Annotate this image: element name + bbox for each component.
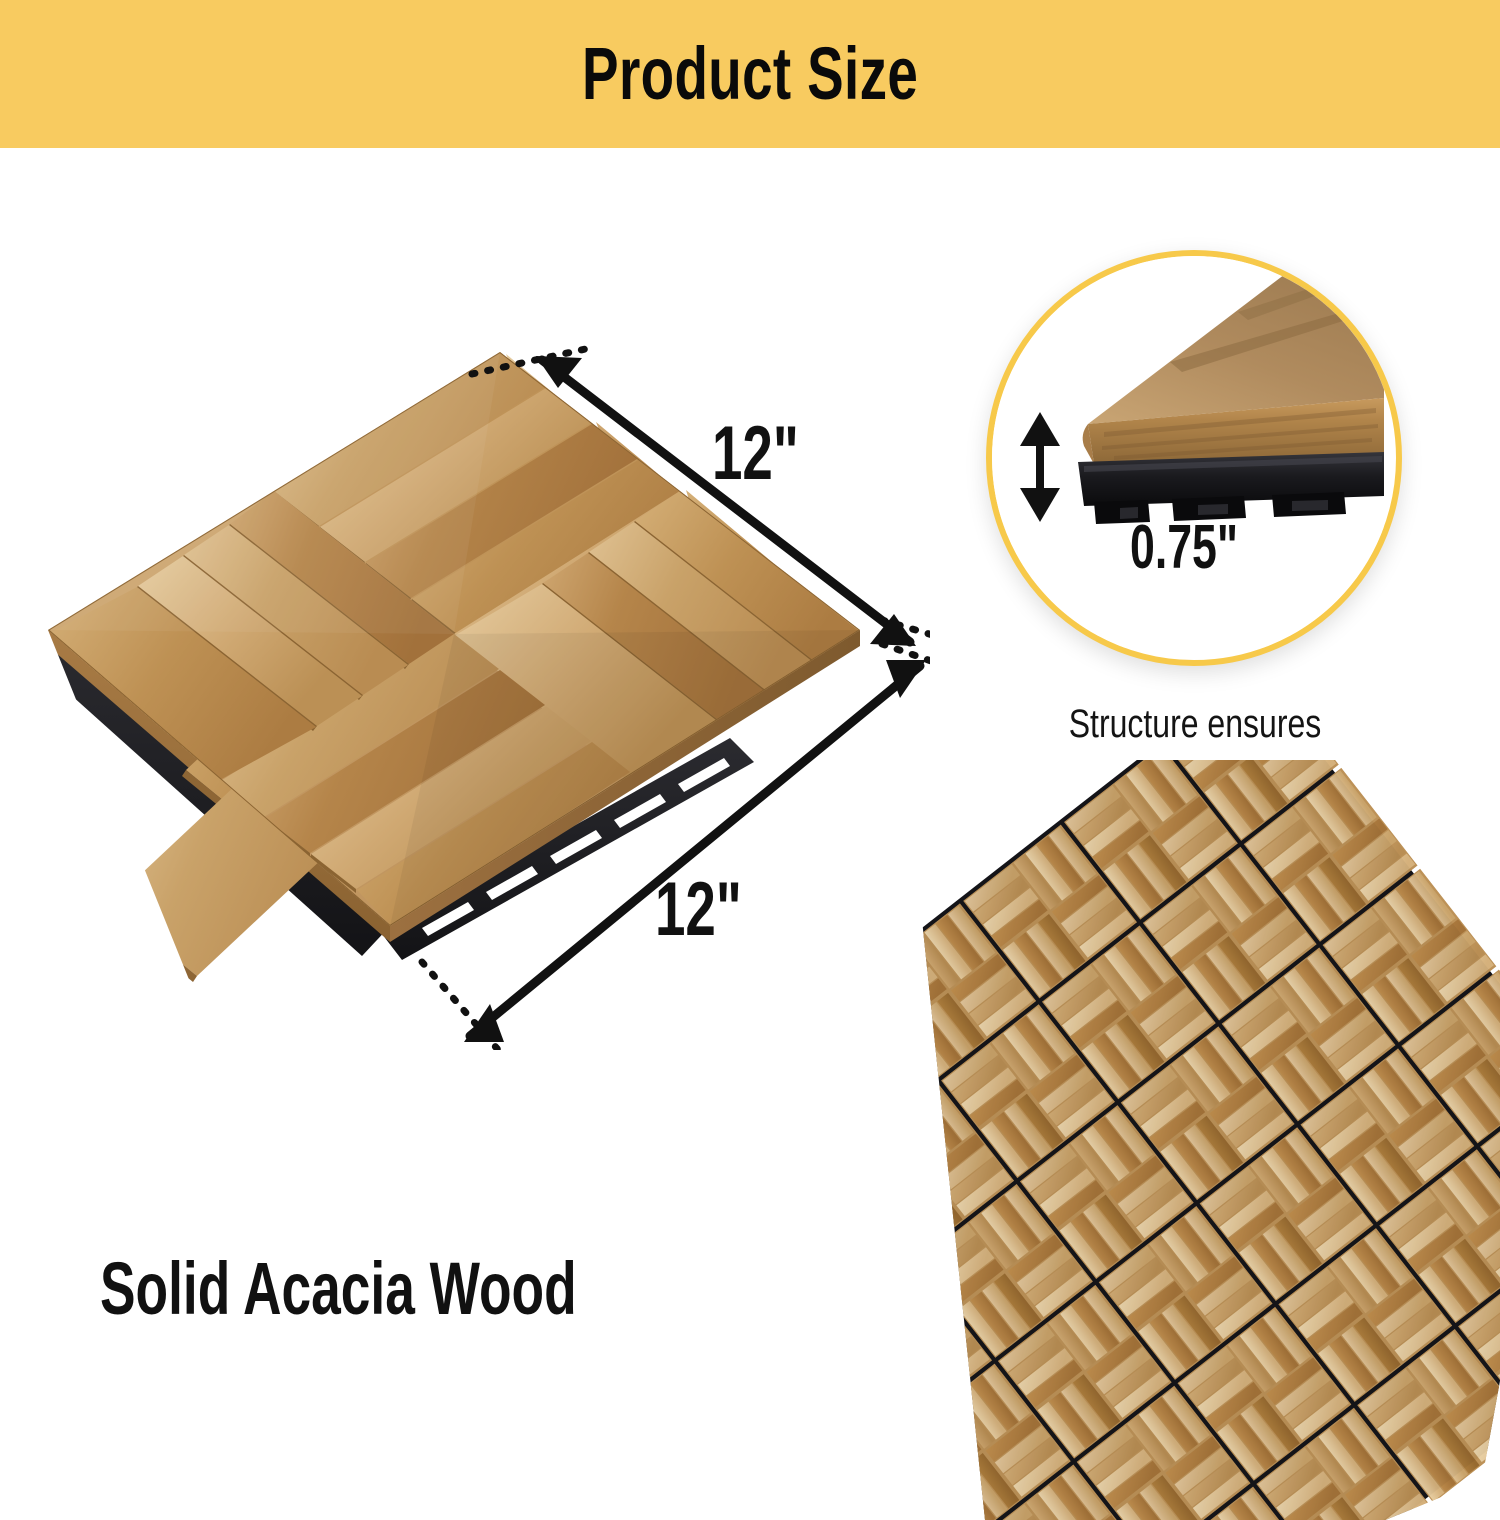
thickness-detail-circle (986, 250, 1402, 666)
thickness-label: 0.75" (1130, 512, 1280, 583)
assembled-deck-illustration (660, 760, 1500, 1520)
dimension-label-width: 12" (712, 410, 833, 497)
page-title: Product Size (582, 37, 918, 111)
header-banner: Product Size (0, 0, 1500, 148)
deck-tile-grid (660, 760, 1500, 1520)
